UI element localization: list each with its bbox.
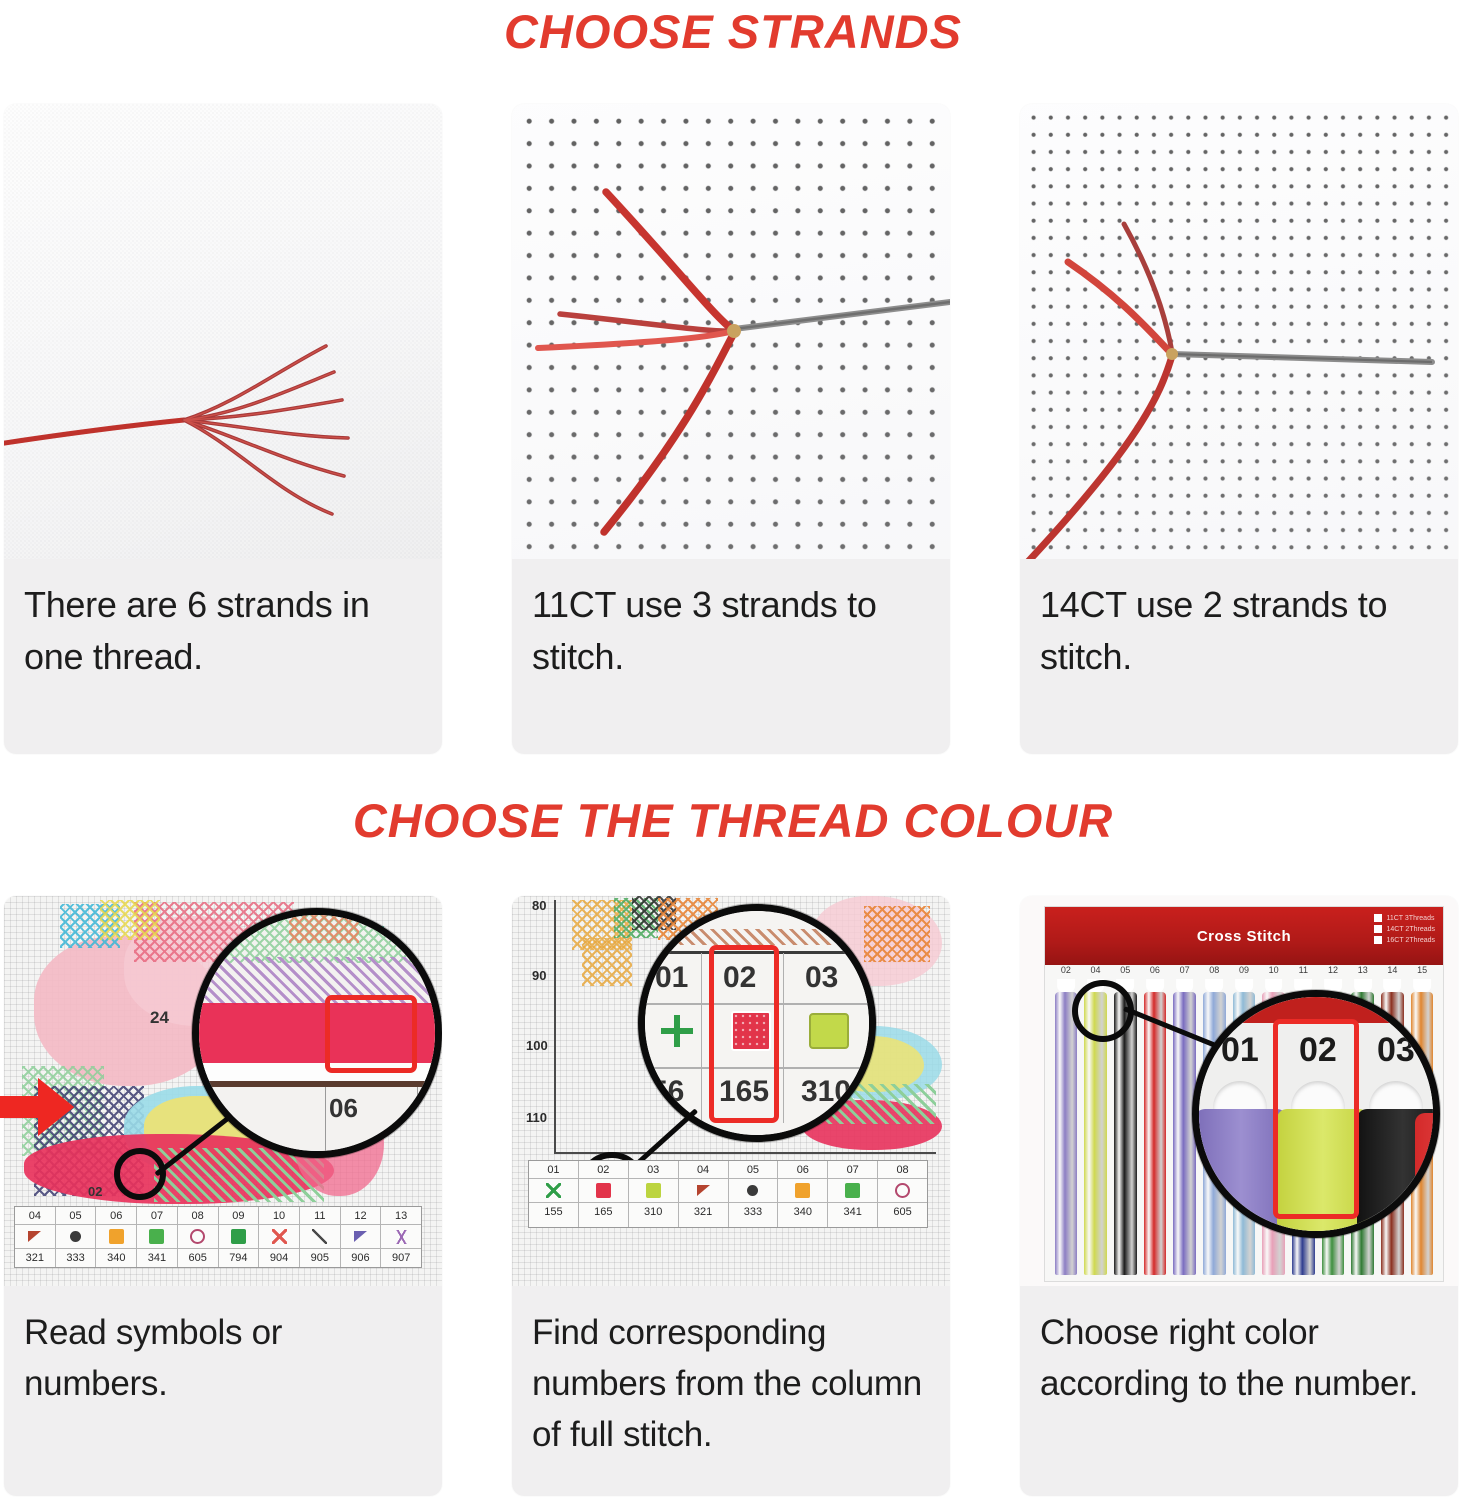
skein-number: 06	[1140, 965, 1170, 975]
caption-find-numbers: Find corresponding numbers from the colu…	[512, 1286, 950, 1460]
floss-option: 11CT 3Threads	[1374, 914, 1435, 922]
legend-symbol-glyph	[596, 1183, 611, 1198]
zoom-band	[638, 929, 876, 945]
legend-dmc-code: 333	[56, 1249, 96, 1267]
chart-cell-label: 24	[150, 1008, 169, 1028]
legend-dmc-code: 794	[219, 1249, 259, 1267]
legend-column: 09794	[219, 1207, 260, 1267]
legend-symbol	[56, 1225, 96, 1249]
legend-column: 07341	[137, 1207, 178, 1267]
legend-number: 11	[300, 1207, 340, 1225]
card-gap-3	[442, 896, 512, 1496]
legend-dmc-code: 165	[579, 1203, 628, 1221]
legend-column: 06340	[96, 1207, 137, 1267]
checkbox-icon[interactable]	[1374, 914, 1382, 922]
legend-symbol-glyph	[231, 1229, 246, 1244]
legend-symbol-glyph	[28, 1231, 41, 1242]
peg-hole	[1176, 979, 1194, 993]
legend-symbol	[178, 1225, 218, 1249]
floss-option-label: 16CT 2Threads	[1386, 937, 1435, 944]
peg-hole	[1265, 979, 1283, 993]
legend-dmc-code: 341	[828, 1203, 877, 1221]
card-choose-colour: Cross Stitch 11CT 3Threads 14CT 2Threads	[1020, 896, 1458, 1496]
magnifier-lens: 01 02 03 56 165 310	[638, 904, 876, 1142]
legend-symbol-glyph	[109, 1229, 124, 1244]
legend-symbol-glyph	[697, 1185, 710, 1196]
strands-card-row: There are 6 strands in one thread. 11CT …	[0, 104, 1466, 764]
zoom-symbol-swatch-green	[809, 1013, 849, 1049]
legend-number: 08	[178, 1207, 218, 1225]
legend-column: 05333	[729, 1161, 779, 1227]
legend-symbol-glyph	[394, 1230, 409, 1244]
photo-six-strands	[4, 104, 442, 559]
legend-column: 08605	[178, 1207, 219, 1267]
legend-number: 13	[381, 1207, 421, 1225]
legend-symbol-glyph	[70, 1231, 81, 1242]
image-thread-card: Cross Stitch 11CT 3Threads 14CT 2Threads	[1020, 896, 1458, 1286]
legend-table-symbols: 0432105333063400734108605097941090411905…	[14, 1206, 422, 1268]
legend-symbol-glyph	[312, 1229, 327, 1244]
card-six-strands: There are 6 strands in one thread.	[4, 104, 442, 754]
legend-column: 05333	[56, 1207, 97, 1267]
floss-option-label: 11CT 3Threads	[1386, 915, 1434, 922]
legend-column: 03310	[629, 1161, 679, 1227]
card-find-numbers: 80 90 100 110	[512, 896, 950, 1496]
legend-number: 01	[529, 1161, 578, 1179]
image-number-chart: 80 90 100 110	[512, 896, 950, 1286]
legend-symbol	[15, 1225, 55, 1249]
zoom-col-number: 01	[655, 961, 688, 995]
caption-11ct: 11CT use 3 strands to stitch.	[512, 559, 950, 683]
photo-11ct-aida	[512, 104, 950, 559]
checkbox-icon[interactable]	[1374, 925, 1382, 933]
arrow-right-icon	[0, 1076, 74, 1138]
caption-read-symbols: Read symbols or numbers.	[4, 1286, 442, 1410]
legend-symbol	[300, 1225, 340, 1249]
legend-symbol	[137, 1225, 177, 1249]
zoom-highlight-box	[1273, 1019, 1359, 1219]
skein-number: 12	[1318, 965, 1348, 975]
pattern-hatch	[100, 900, 160, 940]
zoom-rule-line	[192, 1081, 442, 1087]
legend-dmc-code: 904	[259, 1249, 299, 1267]
legend-dmc-code: 321	[15, 1249, 55, 1267]
magnifier-lens: 06 07	[192, 908, 442, 1158]
legend-dmc-code: 906	[341, 1249, 381, 1267]
colour-card-row: 24 02	[0, 896, 1466, 1496]
skein-number: 15	[1407, 965, 1437, 975]
floss-option-label: 14CT 2Threads	[1386, 926, 1435, 933]
legend-dmc-code: 310	[629, 1203, 678, 1221]
skein-number: 10	[1259, 965, 1289, 975]
legend-number: 05	[729, 1161, 778, 1179]
skein-number: 07	[1170, 965, 1200, 975]
skein-number: 13	[1348, 965, 1378, 975]
legend-number: 07	[828, 1161, 877, 1179]
legend-column: 13907	[381, 1207, 421, 1267]
legend-column: 04321	[679, 1161, 729, 1227]
legend-number: 06	[96, 1207, 136, 1225]
legend-number: 08	[878, 1161, 927, 1179]
legend-symbol	[381, 1225, 421, 1249]
card-11ct: 11CT use 3 strands to stitch.	[512, 104, 950, 754]
page-title-choose-strands: CHOOSE STRANDS	[0, 4, 1466, 59]
zoom-skein-number: 01	[1221, 1031, 1259, 1070]
thread-split-illustration	[4, 104, 442, 559]
legend-symbol-glyph	[845, 1183, 860, 1198]
legend-symbol	[579, 1179, 628, 1203]
legend-number: 04	[15, 1207, 55, 1225]
pattern-hatch	[582, 938, 632, 986]
floss-option: 14CT 2Threads	[1374, 925, 1435, 933]
legend-number: 09	[219, 1207, 259, 1225]
floss-card-options: 11CT 3Threads 14CT 2Threads 16CT 2Thread…	[1374, 914, 1435, 944]
peg-hole	[1384, 979, 1402, 993]
legend-symbol	[878, 1179, 927, 1203]
legend-number: 12	[341, 1207, 381, 1225]
legend-symbol-glyph	[546, 1183, 561, 1198]
legend-number: 07	[137, 1207, 177, 1225]
legend-dmc-code: 905	[300, 1249, 340, 1267]
peg-hole	[1413, 979, 1431, 993]
needle-and-strands-14ct	[1020, 104, 1458, 559]
card-gap-1	[442, 104, 512, 764]
legend-symbol	[259, 1225, 299, 1249]
floss-option: 16CT 2Threads	[1374, 936, 1435, 944]
peg-hole	[1205, 979, 1223, 993]
peg-hole	[1354, 979, 1372, 993]
peg-hole	[1146, 979, 1164, 993]
legend-symbol-glyph	[646, 1183, 661, 1198]
legend-number: 05	[56, 1207, 96, 1225]
skein-number: 05	[1110, 965, 1140, 975]
skein-number: 09	[1229, 965, 1259, 975]
legend-symbol	[219, 1225, 259, 1249]
zoom-highlight-box	[709, 945, 779, 1123]
card-14ct: 14CT use 2 strands to stitch.	[1020, 104, 1458, 754]
legend-symbol	[778, 1179, 827, 1203]
zoom-col-number: 03	[805, 961, 838, 995]
legend-symbol	[529, 1179, 578, 1203]
legend-dmc-code: 605	[178, 1249, 218, 1267]
legend-symbol	[629, 1179, 678, 1203]
floss-card-title: Cross Stitch	[1197, 928, 1291, 945]
legend-dmc-code: 340	[96, 1249, 136, 1267]
caption-six-strands: There are 6 strands in one thread.	[4, 559, 442, 683]
caption-choose-colour: Choose right color according to the numb…	[1020, 1286, 1458, 1410]
skein-number: 04	[1081, 965, 1111, 975]
zoom-dmc-code: 56	[651, 1075, 684, 1109]
skein-number: 02	[1051, 965, 1081, 975]
peg-hole	[1235, 979, 1253, 993]
photo-14ct-aida	[1020, 104, 1458, 559]
peg-hole	[1057, 979, 1075, 993]
legend-number: 04	[679, 1161, 728, 1179]
floss-skein	[1055, 992, 1078, 1275]
legend-column: 10904	[259, 1207, 300, 1267]
legend-symbol-glyph	[895, 1183, 910, 1198]
legend-dmc-code: 341	[137, 1249, 177, 1267]
zoom-dmc-code: 310	[801, 1075, 851, 1109]
page-title-choose-thread-colour: CHOOSE THE THREAD COLOUR	[0, 793, 1466, 848]
zoom-symbol-cross-icon	[657, 1011, 697, 1051]
legend-column: 07341	[828, 1161, 878, 1227]
zoom-highlight-box	[325, 995, 417, 1073]
card-read-symbols: 24 02	[4, 896, 442, 1496]
legend-column: 04321	[15, 1207, 56, 1267]
pattern-hatch	[864, 906, 930, 962]
legend-symbol-glyph	[190, 1229, 205, 1244]
legend-dmc-code: 605	[878, 1203, 927, 1221]
legend-dmc-code: 907	[381, 1249, 421, 1267]
card-gap-4	[950, 896, 1020, 1496]
legend-number: 02	[579, 1161, 628, 1179]
instruction-page: CHOOSE STRANDS	[0, 0, 1466, 1500]
checkbox-icon[interactable]	[1374, 936, 1382, 944]
caption-14ct: 14CT use 2 strands to stitch.	[1020, 559, 1458, 683]
legend-dmc-code: 333	[729, 1203, 778, 1221]
zoom-hatch	[289, 908, 359, 943]
legend-symbol-glyph	[795, 1183, 810, 1198]
legend-symbol-glyph	[354, 1231, 367, 1242]
legend-dmc-code: 340	[778, 1203, 827, 1221]
legend-column: 12906	[341, 1207, 382, 1267]
legend-table-numbers: 0115502165033100432105333063400734108605	[528, 1160, 928, 1228]
legend-dmc-code: 321	[679, 1203, 728, 1221]
floss-card-header: Cross Stitch 11CT 3Threads 14CT 2Threads	[1045, 907, 1443, 965]
card-gap-2	[950, 104, 1020, 764]
legend-number: 06	[778, 1161, 827, 1179]
legend-symbol	[729, 1179, 778, 1203]
needle-and-strands-11ct	[512, 104, 950, 559]
legend-symbol	[341, 1225, 381, 1249]
legend-column: 01155	[529, 1161, 579, 1227]
legend-number: 03	[629, 1161, 678, 1179]
legend-column: 02165	[579, 1161, 629, 1227]
legend-symbol	[828, 1179, 877, 1203]
zoom-skein-number: 03	[1377, 1031, 1415, 1070]
chart-marker-label: 02	[88, 1184, 102, 1199]
skein-number: 11	[1289, 965, 1319, 975]
skein-number: 08	[1199, 965, 1229, 975]
legend-symbol-glyph	[149, 1229, 164, 1244]
legend-column: 06340	[778, 1161, 828, 1227]
zoom-cell-number: 06	[329, 1093, 358, 1124]
legend-symbol-glyph	[272, 1229, 287, 1244]
legend-symbol-glyph	[747, 1185, 758, 1196]
skein-number: 14	[1378, 965, 1408, 975]
legend-column: 11905	[300, 1207, 341, 1267]
legend-number: 10	[259, 1207, 299, 1225]
legend-symbol	[679, 1179, 728, 1203]
legend-symbol	[96, 1225, 136, 1249]
magnifier-lens: 01 02 03	[1192, 990, 1440, 1238]
floss-skein	[1144, 992, 1167, 1275]
legend-dmc-code: 155	[529, 1203, 578, 1221]
legend-column: 08605	[878, 1161, 927, 1227]
